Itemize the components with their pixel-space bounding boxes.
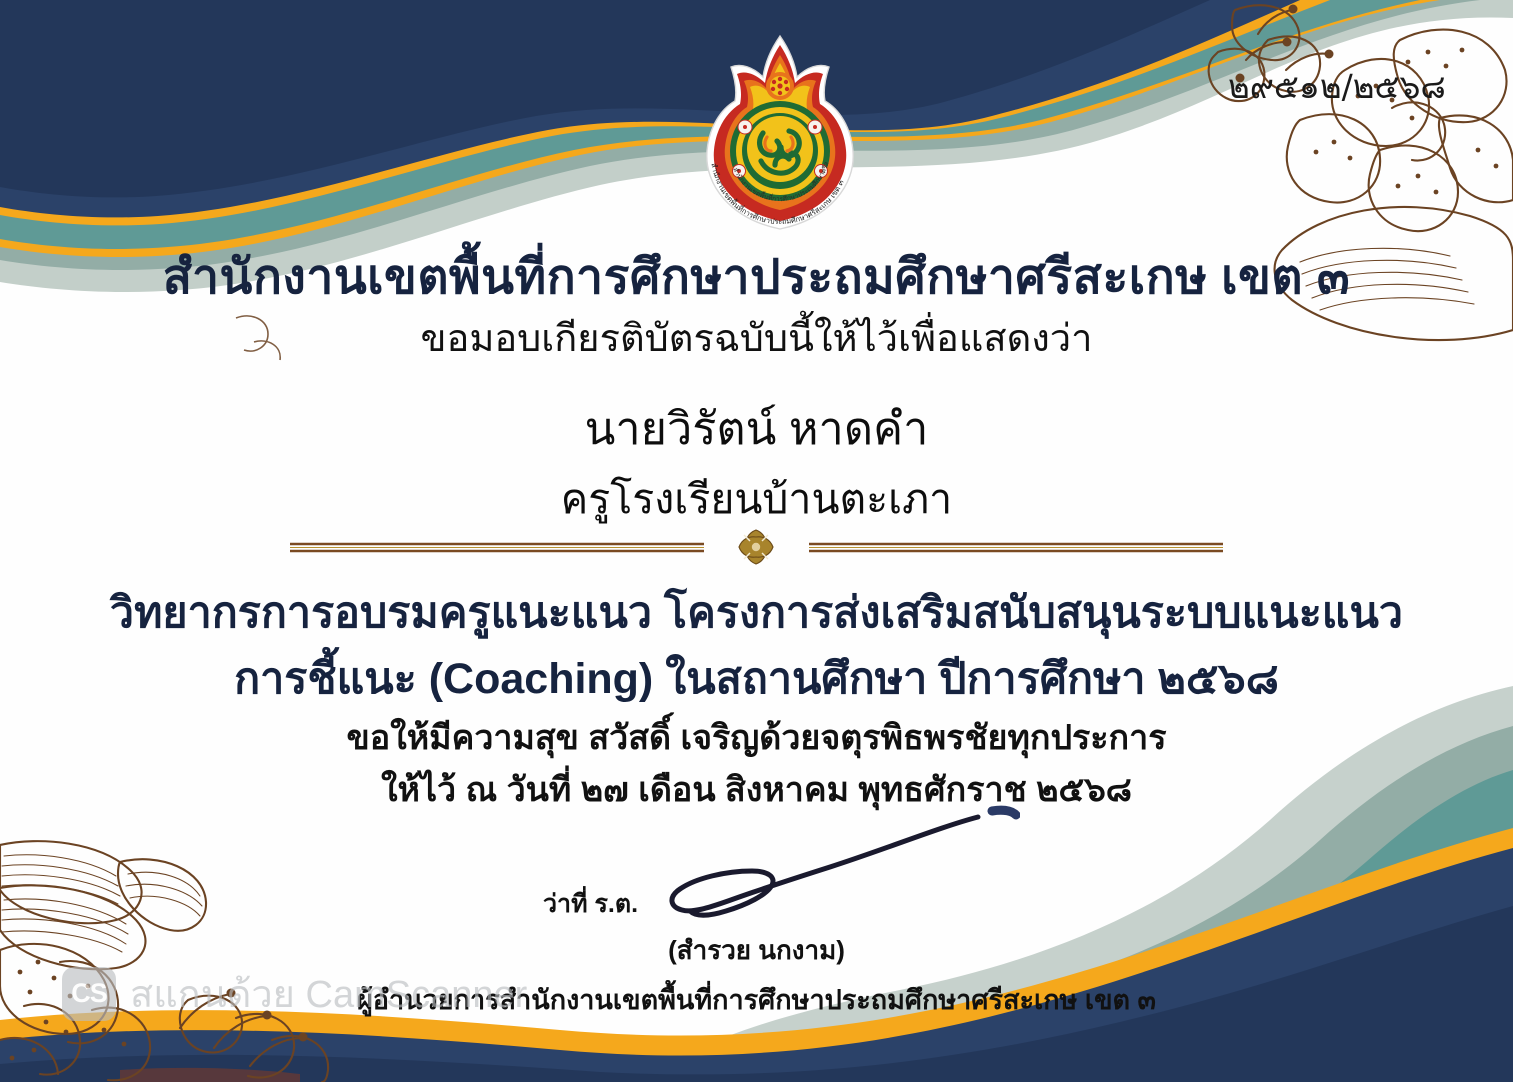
- citation-line-2: การชี้แนะ (Coaching) ในสถานศึกษา ปีการศึ…: [0, 644, 1513, 712]
- blessing-line: ขอให้มีความสุข สวัสดิ์ เจริญด้วยจตุรพิธพ…: [0, 710, 1513, 764]
- handwritten-signature: [600, 805, 1020, 935]
- recipient-name: นายวิรัตน์ หาดคำ: [0, 392, 1513, 464]
- organization-title: สำนักงานเขตพื้นที่การศึกษาประถมศึกษาศรีส…: [0, 239, 1513, 315]
- award-statement: ขอมอบเกียรติบัตรฉบับนี้ให้ไว้เพื่อแสดงว่…: [0, 307, 1513, 368]
- camscanner-watermark-text: สแกนด้วย CamScanner: [130, 963, 527, 1024]
- obec-garuda-seal-icon: สำนักงานเขตพื้นที่การศึกษาประถมศึกษาศรีส…: [697, 33, 863, 233]
- document-number: ๒๙๕๑๒/๒๕๖๘: [1228, 60, 1446, 113]
- certificate-page: สำนักงานเขตพื้นที่การศึกษาประถมศึกษาศรีส…: [0, 0, 1513, 1082]
- camscanner-watermark: CS สแกนด้วย CamScanner: [62, 963, 527, 1024]
- citation-line-1: วิทยากรการอบรมครูแนะแนว โครงการส่งเสริมส…: [0, 578, 1513, 646]
- divider-ornament: [290, 528, 1223, 566]
- camscanner-logo-icon: CS: [62, 967, 116, 1021]
- recipient-role: ครูโรงเรียนบ้านตะเภา: [0, 467, 1513, 532]
